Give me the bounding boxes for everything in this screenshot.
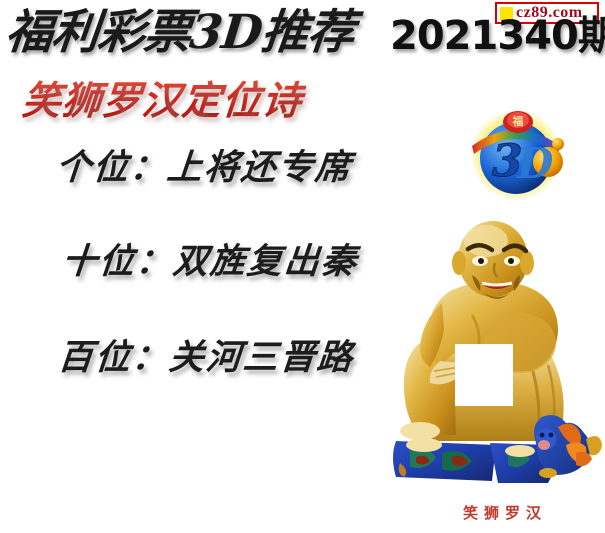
lottery-poster: cz89.com 福利彩票3D推荐 2021340期 笑狮罗汉定位诗 个位：上将… [0,0,605,533]
svg-text:福: 福 [512,114,524,128]
statue-caption: 笑狮罗汉 [443,504,567,522]
page-title: 福利彩票3D推荐 [3,4,399,62]
issue-number: 2021340期 [390,14,605,58]
verse-line-units: 个位：上将还专席 [54,146,354,190]
blank-placeholder-plate [455,344,513,406]
page-subtitle: 笑狮罗汉定位诗 [20,76,394,126]
3d-lottery-emblem-icon: 3 D 福 [462,100,570,202]
verse-line-tens: 十位：双旌复出秦 [60,240,360,284]
verse-line-hundreds: 百位：关河三晋路 [56,336,356,380]
svg-text:D: D [516,139,554,188]
